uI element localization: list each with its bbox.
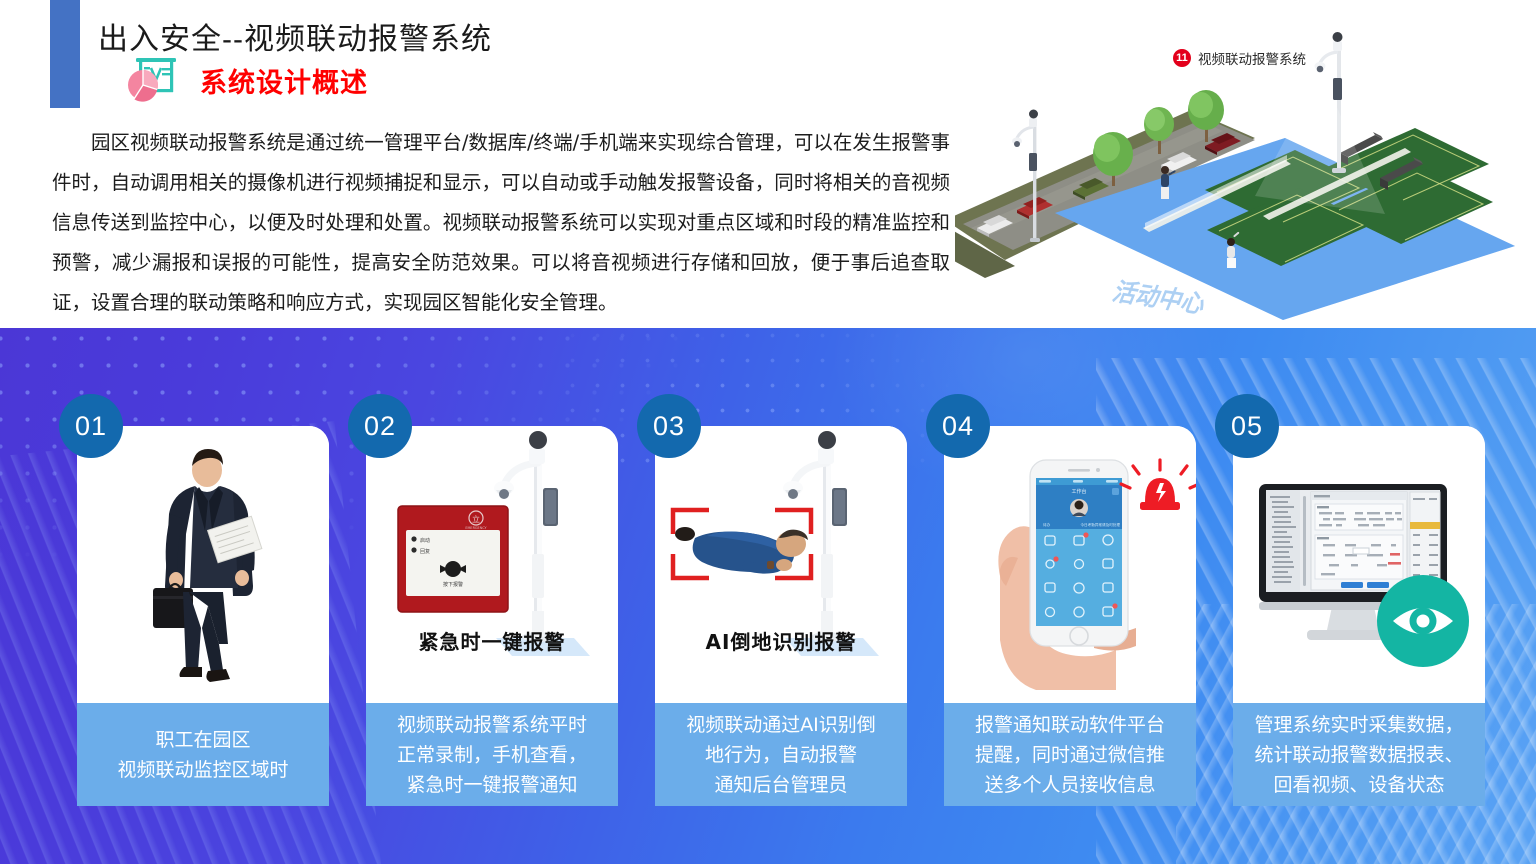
court-label: 活动中心 bbox=[1109, 277, 1212, 319]
card-03-caption: 视频联动通过AI识别倒 地行为，自动报警 通知后台管理员 bbox=[655, 703, 907, 806]
card-05-number-badge: 05 bbox=[1215, 394, 1279, 458]
section-subheading: 系统设计概述 bbox=[122, 52, 368, 108]
svg-text:待办: 待办 bbox=[1043, 522, 1051, 527]
card-03[interactable]: 03 bbox=[655, 426, 907, 806]
svg-text:EMERGENCY: EMERGENCY bbox=[465, 526, 487, 530]
card-05[interactable]: 05 bbox=[1233, 426, 1485, 806]
card-05-media bbox=[1233, 426, 1485, 703]
illustration-graphic: 活动中心 bbox=[955, 28, 1535, 320]
card-04-caption: 报警通知联动软件平台 提醒，同时通过微信推 送多个人员接收信息 bbox=[944, 703, 1196, 806]
svg-text:回复: 回复 bbox=[420, 548, 430, 555]
card-04-media: 工作台 待办 今日考勤异常请及时处理 bbox=[944, 426, 1196, 703]
desktop-monitor-management-software-eye-icon bbox=[1233, 426, 1485, 703]
card-01-number-badge: 01 bbox=[59, 394, 123, 458]
card-02-number-badge: 02 bbox=[348, 394, 412, 458]
illustration-label-text: 视频联动报警系统 bbox=[1198, 48, 1306, 68]
cards-section: 01 bbox=[0, 328, 1536, 864]
svg-text:按下报警: 按下报警 bbox=[443, 581, 463, 588]
card-02-caption: 视频联动报警系统平时 正常录制，手机查看， 紧急时一键报警通知 bbox=[366, 703, 618, 806]
eye-icon bbox=[1377, 575, 1469, 667]
svg-text:工作台: 工作台 bbox=[1071, 488, 1086, 495]
illustration-badge: 11 bbox=[1173, 49, 1191, 67]
header-section: 出入安全--视频联动报警系统 系统设计概述 园区视频联动报警系统是通过统一管理平… bbox=[0, 0, 1536, 328]
accent-bar bbox=[50, 0, 80, 108]
emergency-call-box-and-smart-pole: 立 EMERGENCY 启动 回复 按下报警 bbox=[366, 426, 618, 703]
card-03-media: AI倒地识别报警 bbox=[655, 426, 907, 703]
overview-paragraph: 园区视频联动报警系统是通过统一管理平台/数据库/终端/手机端来实现综合管理，可以… bbox=[52, 123, 950, 323]
card-01-caption: 职工在园区 视频联动监控区域时 bbox=[77, 703, 329, 806]
card-02-media: 立 EMERGENCY 启动 回复 按下报警 紧急时一键报警 bbox=[366, 426, 618, 703]
card-list: 01 bbox=[0, 328, 1536, 864]
card-01[interactable]: 01 bbox=[77, 426, 329, 806]
ai-fall-detection-and-smart-pole bbox=[655, 426, 907, 703]
svg-text:启动: 启动 bbox=[420, 537, 430, 544]
card-04-number-badge: 04 bbox=[926, 394, 990, 458]
card-02[interactable]: 02 bbox=[366, 426, 618, 806]
illustration-label: 11 视频联动报警系统 bbox=[1173, 48, 1306, 68]
hand-holding-phone-app-with-alarm: 工作台 待办 今日考勤异常请及时处理 bbox=[944, 426, 1196, 703]
subheading-label: 系统设计概述 bbox=[200, 61, 368, 100]
card-01-media bbox=[77, 426, 329, 703]
card-02-media-title: 紧急时一键报警 bbox=[366, 626, 618, 655]
card-03-number-badge: 03 bbox=[637, 394, 701, 458]
isometric-park-illustration: 活动中心 11 视频联动报警系统 bbox=[955, 28, 1535, 320]
card-05-caption: 管理系统实时采集数据， 统计联动报警数据报表、 回看视频、设备状态 bbox=[1233, 703, 1485, 806]
svg-text:今日考勤异常请及时处理: 今日考勤异常请及时处理 bbox=[1080, 522, 1120, 527]
businessman-walking-photo bbox=[77, 426, 329, 703]
presentation-board-pie-chart-icon bbox=[122, 52, 186, 108]
svg-text:立: 立 bbox=[472, 514, 480, 524]
card-03-media-title: AI倒地识别报警 bbox=[655, 626, 907, 655]
card-04[interactable]: 04 bbox=[944, 426, 1196, 806]
